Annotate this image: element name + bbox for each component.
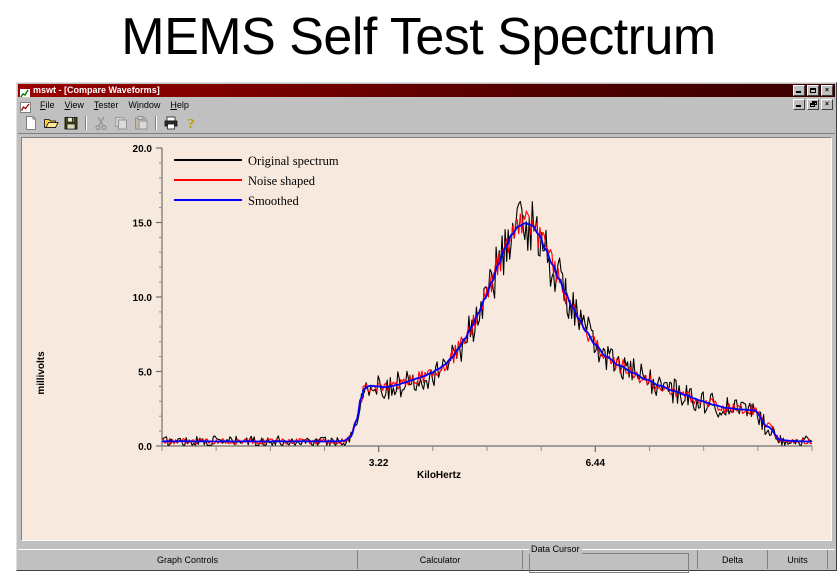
copy-button[interactable] bbox=[111, 114, 131, 132]
status-panel-delta[interactable]: Delta bbox=[698, 550, 768, 569]
status-panel-calculator[interactable]: Calculator bbox=[358, 550, 523, 569]
y-tick-label: 5.0 bbox=[138, 368, 152, 379]
menu-item-window[interactable]: Window bbox=[123, 99, 165, 111]
svg-text:?: ? bbox=[188, 117, 195, 131]
legend-label-original: Original spectrum bbox=[248, 154, 339, 168]
window-title: mswt - [Compare Waveforms] bbox=[33, 85, 160, 96]
mdi-document-icon[interactable] bbox=[20, 100, 31, 111]
calculator-label: Calculator bbox=[420, 555, 461, 565]
y-tick-label: 10.0 bbox=[133, 293, 153, 304]
data-cursor-groupbox bbox=[529, 553, 689, 573]
menu-bar: File View Tester Window Help × bbox=[18, 98, 835, 112]
menu-item-help[interactable]: Help bbox=[165, 99, 194, 111]
x-tick-label: 3.22 bbox=[369, 458, 389, 469]
print-button[interactable] bbox=[161, 114, 181, 132]
page-title: MEMS Self Test Spectrum bbox=[0, 2, 837, 72]
legend-label-noise-shaped: Noise shaped bbox=[248, 174, 316, 188]
menu-item-tester[interactable]: Tester bbox=[89, 99, 124, 111]
maximize-button[interactable] bbox=[807, 85, 819, 96]
paste-button[interactable] bbox=[131, 114, 151, 132]
y-tick-label: 15.0 bbox=[133, 219, 153, 230]
close-button[interactable]: × bbox=[821, 85, 833, 96]
delta-label: Delta bbox=[722, 555, 743, 565]
status-panel-graph-controls[interactable]: Graph Controls bbox=[18, 550, 358, 569]
menu-item-file[interactable]: File bbox=[35, 99, 60, 111]
toolbar-separator-2 bbox=[155, 116, 157, 130]
save-button[interactable] bbox=[61, 114, 81, 132]
x-tick-label: 6.44 bbox=[586, 458, 606, 469]
cut-button[interactable] bbox=[91, 114, 111, 132]
units-label: Units bbox=[787, 555, 808, 565]
application-window: mswt - [Compare Waveforms] × File View T… bbox=[16, 82, 837, 571]
minimize-button[interactable] bbox=[793, 85, 805, 96]
y-tick-label: 0.0 bbox=[138, 442, 152, 453]
toolbar: ? bbox=[18, 113, 835, 134]
legend-label-smoothed: Smoothed bbox=[248, 194, 299, 208]
status-panel-data-cursor[interactable]: Data Cursor bbox=[523, 550, 698, 569]
chart-canvas[interactable]: 0.05.010.015.020.03.226.44 millivolts Ki… bbox=[21, 137, 832, 541]
y-tick-label: 20.0 bbox=[133, 144, 153, 155]
about-button[interactable]: ? bbox=[181, 114, 201, 132]
spectrum-plot: 0.05.010.015.020.03.226.44 millivolts Ki… bbox=[22, 138, 831, 540]
x-axis-label: KiloHertz bbox=[417, 470, 461, 481]
status-bar: Graph Controls Calculator Data Cursor De… bbox=[18, 549, 835, 569]
new-button[interactable] bbox=[21, 114, 41, 132]
graph-controls-label: Graph Controls bbox=[157, 555, 218, 565]
status-panel-spacer bbox=[828, 550, 835, 569]
open-button[interactable] bbox=[41, 114, 61, 132]
y-axis-label: millivolts bbox=[36, 351, 47, 395]
mdi-client-area: 0.05.010.015.020.03.226.44 millivolts Ki… bbox=[18, 135, 835, 569]
data-cursor-label: Data Cursor bbox=[529, 544, 582, 554]
chart-app-icon bbox=[20, 86, 30, 96]
window-button-group: × bbox=[793, 85, 833, 96]
mdi-minimize-button[interactable] bbox=[793, 99, 805, 110]
toolbar-separator bbox=[85, 116, 87, 130]
menu-item-view[interactable]: View bbox=[60, 99, 89, 111]
mdi-restore-button[interactable] bbox=[807, 99, 819, 110]
mdi-button-group: × bbox=[793, 99, 833, 110]
title-bar: mswt - [Compare Waveforms] × bbox=[18, 84, 835, 97]
mdi-close-button[interactable]: × bbox=[821, 99, 833, 110]
status-panel-units[interactable]: Units bbox=[768, 550, 828, 569]
